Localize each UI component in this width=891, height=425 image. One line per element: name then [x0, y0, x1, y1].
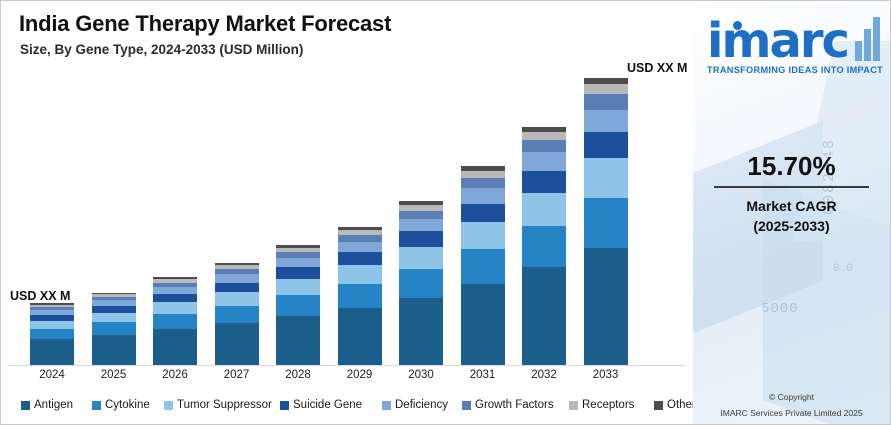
bar-stack: [584, 78, 628, 365]
legend-swatch-icon: [21, 401, 30, 410]
cagr-value: 15.70%: [693, 151, 890, 182]
imarc-logo-bars-icon: [855, 15, 885, 61]
bar-segment: [92, 306, 136, 313]
bar-segment: [522, 152, 566, 171]
bar-segment: [399, 219, 443, 232]
bar-segment: [522, 132, 566, 140]
bar-segment: [92, 322, 136, 335]
bar-stack: [92, 293, 136, 365]
legend-label: Deficiency: [395, 399, 448, 411]
legend-item[interactable]: Antigen: [21, 397, 73, 413]
copyright-text: © Copyright: [693, 392, 890, 402]
bar-segment: [461, 284, 505, 365]
bar-segment: [399, 269, 443, 298]
legend-item[interactable]: Growth Factors: [462, 397, 554, 413]
x-axis-tick-label: 2027: [207, 369, 267, 381]
bar-segment: [399, 298, 443, 365]
bar-segment: [461, 249, 505, 284]
bar-segment: [338, 242, 382, 252]
bar-segment: [522, 226, 566, 268]
bar-segment: [215, 306, 259, 323]
legend-label: Tumor Suppressor: [177, 399, 272, 411]
cagr-label: Market CAGR: [693, 196, 890, 216]
legend-swatch-icon: [382, 401, 391, 410]
bar-segment: [153, 314, 197, 329]
x-axis-line: [9, 365, 685, 366]
bar-segment: [276, 267, 320, 279]
bar-stack: [276, 245, 320, 365]
imarc-branding-panel: 0082048 5000 0.0 imarc TRANSFORMING IDEA…: [693, 1, 890, 424]
bar-segment: [399, 211, 443, 219]
legend-swatch-icon: [654, 401, 663, 410]
bar-segment: [522, 267, 566, 365]
background-number-2: 5000: [761, 301, 799, 317]
bar-stack: [153, 277, 197, 365]
legend-swatch-icon: [462, 401, 471, 410]
bar-segment: [461, 178, 505, 188]
x-axis-labels: 2024202520262027202820292030203120322033: [9, 369, 685, 389]
legend-item[interactable]: Tumor Suppressor: [164, 397, 272, 413]
chart-page: India Gene Therapy Market Forecast Size,…: [0, 0, 891, 425]
bar-segment: [153, 302, 197, 314]
legend-item[interactable]: Deficiency: [382, 397, 448, 413]
bar-stack: [461, 166, 505, 365]
bar-segment: [584, 248, 628, 365]
bar-segment: [276, 316, 320, 365]
legend-label: Antigen: [34, 399, 73, 411]
bar-segment: [338, 284, 382, 308]
imarc-logo: imarc TRANSFORMING IDEAS INTO IMPACT: [707, 15, 887, 75]
imarc-tagline: TRANSFORMING IDEAS INTO IMPACT: [707, 65, 887, 75]
x-axis-tick-label: 2026: [145, 369, 205, 381]
bar-segment: [215, 283, 259, 292]
legend-label: Suicide Gene: [293, 399, 362, 411]
x-axis-tick-label: 2029: [330, 369, 390, 381]
annotation-left: USD XX M: [10, 289, 70, 303]
bar-segment: [215, 292, 259, 306]
legend-swatch-icon: [569, 401, 578, 410]
cagr-block: 15.70% Market CAGR (2025-2033): [693, 151, 890, 236]
x-axis-tick-label: 2025: [84, 369, 144, 381]
annotation-right: USD XX M: [627, 61, 687, 75]
bar-segment: [461, 222, 505, 249]
page-title: India Gene Therapy Market Forecast: [19, 11, 391, 37]
bar-segment: [153, 329, 197, 365]
legend-label: Growth Factors: [475, 399, 554, 411]
x-axis-tick-label: 2024: [22, 369, 82, 381]
x-axis-tick-label: 2031: [453, 369, 513, 381]
legend-swatch-icon: [92, 401, 101, 410]
bar-segment: [338, 265, 382, 284]
bar-segment: [522, 171, 566, 193]
chart-subtitle: Size, By Gene Type, 2024-2033 (USD Milli…: [20, 42, 303, 57]
bar-segment: [276, 258, 320, 267]
bar-segment: [30, 329, 74, 339]
bar-segment: [584, 84, 628, 94]
bar-segment: [461, 171, 505, 178]
bar-stack: [215, 263, 259, 365]
bar-segment: [522, 193, 566, 226]
legend-item[interactable]: Receptors: [569, 397, 634, 413]
bar-segment: [30, 339, 74, 365]
bar-segment: [276, 295, 320, 316]
legend-swatch-icon: [280, 401, 289, 410]
chart-legend: AntigenCytokineTumor SuppressorSuicide G…: [9, 397, 685, 417]
bar-segment: [461, 188, 505, 203]
bar-segment: [338, 308, 382, 365]
x-axis-tick-label: 2032: [514, 369, 574, 381]
bar-segment: [584, 110, 628, 132]
legend-label: Receptors: [582, 399, 634, 411]
legend-label: Cytokine: [105, 399, 150, 411]
bar-segment: [215, 274, 259, 282]
bar-stack: [522, 127, 566, 365]
x-axis-tick-label: 2030: [391, 369, 451, 381]
bar-segment: [338, 252, 382, 265]
chart-panel: India Gene Therapy Market Forecast Size,…: [1, 1, 693, 424]
x-axis-tick-label: 2033: [576, 369, 636, 381]
bar-stack: [30, 303, 74, 365]
legend-swatch-icon: [164, 401, 173, 410]
bar-segment: [399, 247, 443, 269]
bar-stack: [399, 201, 443, 365]
plot-area: [9, 63, 685, 365]
cagr-divider: [714, 186, 869, 188]
bar-segment: [584, 132, 628, 159]
bar-segment: [399, 231, 443, 246]
bar-segment: [30, 321, 74, 329]
imarc-logo-dot-icon: [733, 21, 742, 30]
x-axis-tick-label: 2028: [268, 369, 328, 381]
bar-segment: [92, 335, 136, 365]
company-footer: IMARC Services Private Limited 2025: [693, 408, 890, 418]
bar-segment: [461, 204, 505, 223]
bar-segment: [338, 235, 382, 242]
bar-stack: [338, 227, 382, 365]
bar-segment: [584, 198, 628, 248]
bar-segment: [584, 158, 628, 197]
legend-item[interactable]: Suicide Gene: [280, 397, 362, 413]
bar-segment: [92, 313, 136, 322]
bar-segment: [584, 94, 628, 109]
cagr-period: (2025-2033): [693, 216, 890, 236]
legend-item[interactable]: Cytokine: [92, 397, 150, 413]
bar-segment: [522, 140, 566, 153]
bar-segment: [276, 279, 320, 295]
bar-segment: [153, 294, 197, 302]
bar-segment: [215, 323, 259, 365]
bar-segment: [153, 287, 197, 294]
background-number-3: 0.0: [833, 263, 853, 275]
